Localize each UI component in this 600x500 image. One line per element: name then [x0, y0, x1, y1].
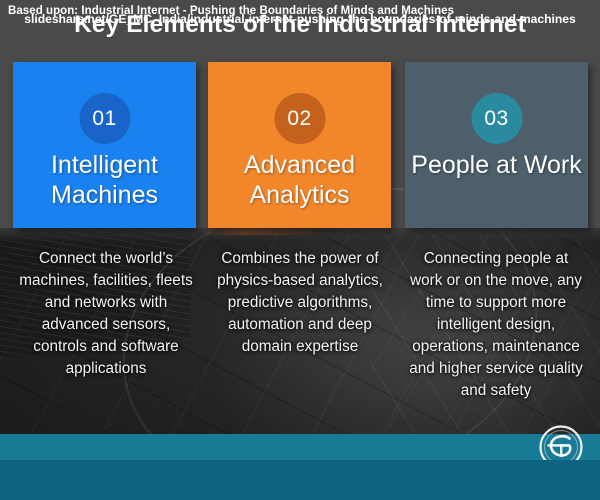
card-number-badge: 02 [274, 93, 325, 144]
source-band [0, 434, 600, 460]
card-description-advanced-analytics: Combines the power of physics-based anal… [210, 248, 390, 358]
card-title: People at Work [411, 150, 582, 180]
source-url-text[interactable]: slideshare.net/GE_MC_India/industrial-in… [0, 12, 600, 26]
card-number-badge: 03 [471, 93, 522, 144]
card-title: Advanced Analytics [214, 150, 385, 210]
card-number-badge: 01 [79, 93, 130, 144]
descriptions-row: Connect the world’s machines, facilities… [0, 248, 600, 418]
infographic-canvas: Key Elements of the Industrial Internet … [0, 0, 600, 500]
card-people-at-work[interactable]: 03 People at Work [405, 62, 588, 228]
card-description-people-at-work: Connecting people at work or on the move… [406, 248, 586, 402]
card-description-intelligent-machines: Connect the world’s machines, facilities… [16, 248, 196, 380]
card-intelligent-machines[interactable]: 01 Intelligent Machines [13, 62, 196, 228]
cards-row: 01 Intelligent Machines 02 Advanced Anal… [0, 62, 600, 228]
card-title: Intelligent Machines [19, 150, 190, 210]
url-band [0, 460, 600, 500]
card-advanced-analytics[interactable]: 02 Advanced Analytics [208, 62, 391, 228]
